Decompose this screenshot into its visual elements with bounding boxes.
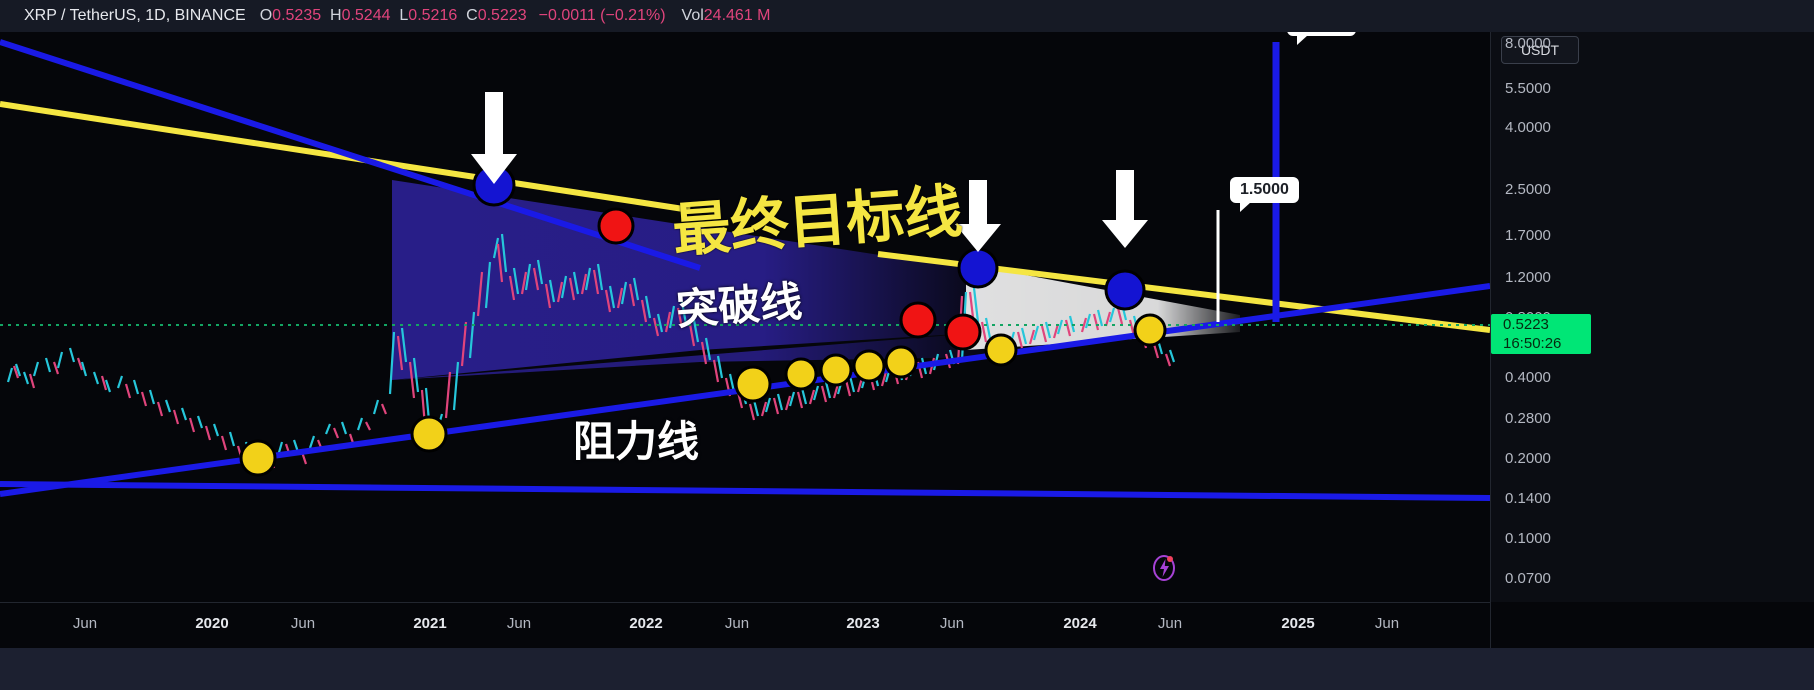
time-tick: Jun bbox=[1375, 615, 1399, 632]
price-tick: 4.0000 bbox=[1505, 119, 1551, 136]
volume-value: 24.461 M bbox=[704, 7, 771, 24]
price-change: −0.0011 (−0.21%) bbox=[539, 7, 666, 25]
tradingview-chart-window: XRP / TetherUS, 1D, BINANCE O0.5235 H0.5… bbox=[0, 0, 1814, 690]
high-key: H bbox=[330, 7, 342, 24]
high-value: 0.5244 bbox=[342, 7, 391, 24]
marker-yellow-2022-nov bbox=[854, 351, 884, 381]
last-price-value: 0.5223 bbox=[1503, 315, 1591, 334]
marker-blue-2024-apr bbox=[1106, 271, 1144, 309]
marker-yellow-2022-dec bbox=[886, 347, 916, 377]
time-tick: Jun bbox=[507, 615, 531, 632]
price-tick: 0.2000 bbox=[1505, 450, 1551, 467]
axis-corner bbox=[1490, 602, 1814, 648]
price-tick: 0.4000 bbox=[1505, 369, 1551, 386]
close-key: C bbox=[466, 7, 478, 24]
annotation-resistance-line: 阻力线 bbox=[573, 408, 699, 469]
callout-target-1500[interactable]: 1.5000 bbox=[1230, 177, 1299, 203]
price-tick: 1.7000 bbox=[1505, 227, 1551, 244]
marker-blue-2023-jun bbox=[959, 249, 997, 287]
open-key: O bbox=[260, 7, 272, 24]
chart-plot-area[interactable]: 最终目标线 突破线 阻力线 7.5000 1.5000 bbox=[0, 32, 1490, 602]
arrow-down-icon-1 bbox=[471, 92, 517, 184]
symbol-title[interactable]: XRP / TetherUS, 1D, BINANCE bbox=[24, 7, 246, 25]
time-tick: Jun bbox=[73, 615, 97, 632]
price-axis[interactable]: USDT 8.0000 5.5000 4.0000 2.5000 1.7000 … bbox=[1490, 32, 1814, 602]
marker-yellow-2019 bbox=[241, 441, 275, 475]
price-tick: 5.5000 bbox=[1505, 80, 1551, 97]
arrow-down-icon-3 bbox=[1102, 170, 1148, 248]
marker-yellow-2022-oct bbox=[821, 355, 851, 385]
window-footer-bar bbox=[0, 648, 1814, 690]
price-tick: 0.1400 bbox=[1505, 490, 1551, 507]
time-tick: Jun bbox=[725, 615, 749, 632]
close-value: 0.5223 bbox=[478, 7, 527, 24]
price-tick: 0.0700 bbox=[1505, 570, 1551, 587]
time-tick: 2022 bbox=[629, 615, 662, 632]
lightning-icon[interactable] bbox=[1152, 552, 1176, 582]
ohlc-values: O0.5235 H0.5244 L0.5216 C0.5223 bbox=[260, 7, 527, 25]
time-tick: 2023 bbox=[846, 615, 879, 632]
time-tick: 2021 bbox=[413, 615, 446, 632]
price-tick: 1.2000 bbox=[1505, 269, 1551, 286]
time-tick: 2020 bbox=[195, 615, 228, 632]
price-tick: 2.5000 bbox=[1505, 181, 1551, 198]
time-tick: 2024 bbox=[1063, 615, 1096, 632]
marker-yellow-2022-sep bbox=[786, 359, 816, 389]
marker-yellow-2020 bbox=[412, 417, 446, 451]
time-tick: Jun bbox=[291, 615, 315, 632]
callout-target-7500[interactable]: 7.5000 bbox=[1287, 32, 1356, 36]
yellow-final-target-line[interactable] bbox=[0, 104, 690, 210]
marker-yellow-2022-jul bbox=[736, 367, 770, 401]
marker-red-2023-apr bbox=[946, 315, 980, 349]
marker-red-2023-mar bbox=[901, 303, 935, 337]
chart-header-legend: XRP / TetherUS, 1D, BINANCE O0.5235 H0.5… bbox=[0, 0, 1814, 32]
volume-key: Vol bbox=[682, 7, 704, 24]
marker-red-2021-nov bbox=[599, 209, 633, 243]
blue-upper-descending-trendline[interactable] bbox=[0, 42, 700, 268]
open-value: 0.5235 bbox=[272, 7, 321, 24]
time-tick: Jun bbox=[1158, 615, 1182, 632]
blue-lower-descending-line[interactable] bbox=[0, 484, 1490, 498]
last-price-countdown: 16:50:26 bbox=[1503, 334, 1591, 353]
marker-yellow-2024-jun bbox=[1135, 315, 1165, 345]
time-tick: Jun bbox=[940, 615, 964, 632]
price-tick: 0.2800 bbox=[1505, 410, 1551, 427]
time-tick: 2025 bbox=[1281, 615, 1314, 632]
volume-legend: Vol24.461 M bbox=[682, 7, 771, 25]
price-tick: 0.1000 bbox=[1505, 530, 1551, 547]
annotation-breakout-line: 突破线 bbox=[674, 268, 804, 338]
last-price-badge[interactable]: 0.5223 16:50:26 bbox=[1491, 314, 1591, 354]
low-key: L bbox=[399, 7, 408, 24]
price-tick: 8.0000 bbox=[1505, 35, 1551, 52]
low-value: 0.5216 bbox=[408, 7, 457, 24]
marker-yellow-2023-aug bbox=[986, 335, 1016, 365]
